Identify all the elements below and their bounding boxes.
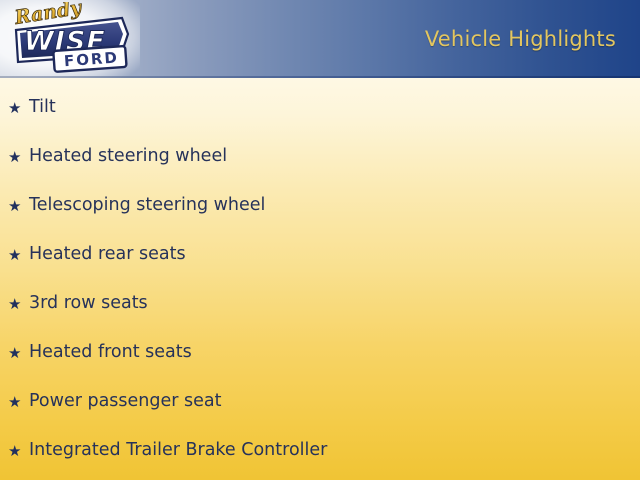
page-title: Vehicle Highlights xyxy=(425,27,616,51)
star-bullet-icon: ★ xyxy=(8,150,29,165)
list-item: ★ Tilt xyxy=(8,95,56,121)
slide-header: WISE FORD Randy Vehicle Highlights xyxy=(0,0,640,78)
list-item-label: Power passenger seat xyxy=(29,393,222,411)
list-item: ★ 3rd row seats xyxy=(8,291,148,317)
logo-ford-banner: FORD xyxy=(53,46,126,72)
star-bullet-icon: ★ xyxy=(8,444,29,459)
star-bullet-icon: ★ xyxy=(8,346,29,361)
list-item: ★ Power passenger seat xyxy=(8,389,222,415)
vehicle-highlights-list: ★ Tilt ★ Heated steering wheel ★ Telesco… xyxy=(0,78,640,480)
logo-artwork: WISE FORD Randy xyxy=(4,2,136,78)
star-bullet-icon: ★ xyxy=(8,395,29,410)
list-item: ★ Integrated Trailer Brake Controller xyxy=(8,438,327,464)
vehicle-highlights-slide: WISE FORD Randy Vehicle Highlights ★ Til… xyxy=(0,0,640,480)
list-item: ★ Heated steering wheel xyxy=(8,144,227,170)
list-item: ★ Heated rear seats xyxy=(8,242,186,268)
logo-ford-text: FORD xyxy=(63,48,119,70)
list-item-label: Telescoping steering wheel xyxy=(29,197,265,215)
list-item-label: Heated rear seats xyxy=(29,246,186,264)
list-item: ★ Heated front seats xyxy=(8,340,192,366)
star-bullet-icon: ★ xyxy=(8,101,29,116)
list-item-label: Integrated Trailer Brake Controller xyxy=(29,442,327,460)
list-item-label: Tilt xyxy=(29,99,56,117)
list-item-label: Heated steering wheel xyxy=(29,148,227,166)
list-item-label: 3rd row seats xyxy=(29,295,148,313)
star-bullet-icon: ★ xyxy=(8,297,29,312)
list-item: ★ Telescoping steering wheel xyxy=(8,193,265,219)
randy-wise-ford-logo: WISE FORD Randy xyxy=(4,2,136,78)
star-bullet-icon: ★ xyxy=(8,199,29,214)
star-bullet-icon: ★ xyxy=(8,248,29,263)
list-item-label: Heated front seats xyxy=(29,344,192,362)
